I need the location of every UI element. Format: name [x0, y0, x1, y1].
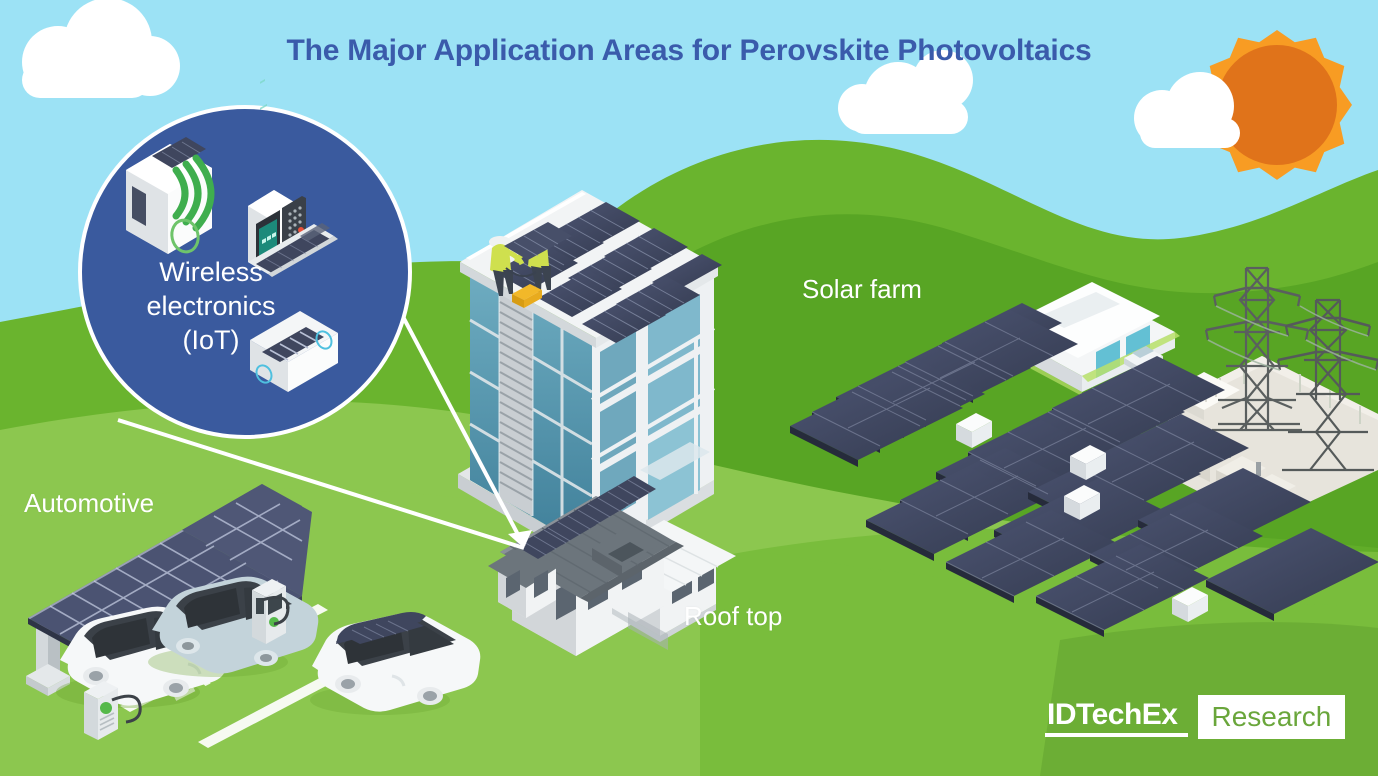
infographic-canvas: EV EV [0, 0, 1378, 776]
label-roof-top: Roof top [684, 601, 782, 632]
iot-label-line3: (IoT) [92, 323, 330, 357]
iot-label-line2: electronics [92, 289, 330, 323]
idtechex-research-logo: IDTechEx Research [1045, 695, 1345, 739]
iot-callout-group [0, 0, 1378, 776]
logo-product: Research [1212, 702, 1332, 732]
iot-label-line1: Wireless [92, 255, 330, 289]
page-title: The Major Application Areas for Perovski… [0, 34, 1378, 68]
logo-brand: IDTechEx [1045, 695, 1188, 737]
iot-callout-label: Wireless electronics (IoT) [92, 255, 330, 357]
label-automotive: Automotive [24, 488, 154, 519]
logo-product-box: Research [1198, 695, 1346, 739]
label-solar-farm: Solar farm [802, 274, 922, 305]
